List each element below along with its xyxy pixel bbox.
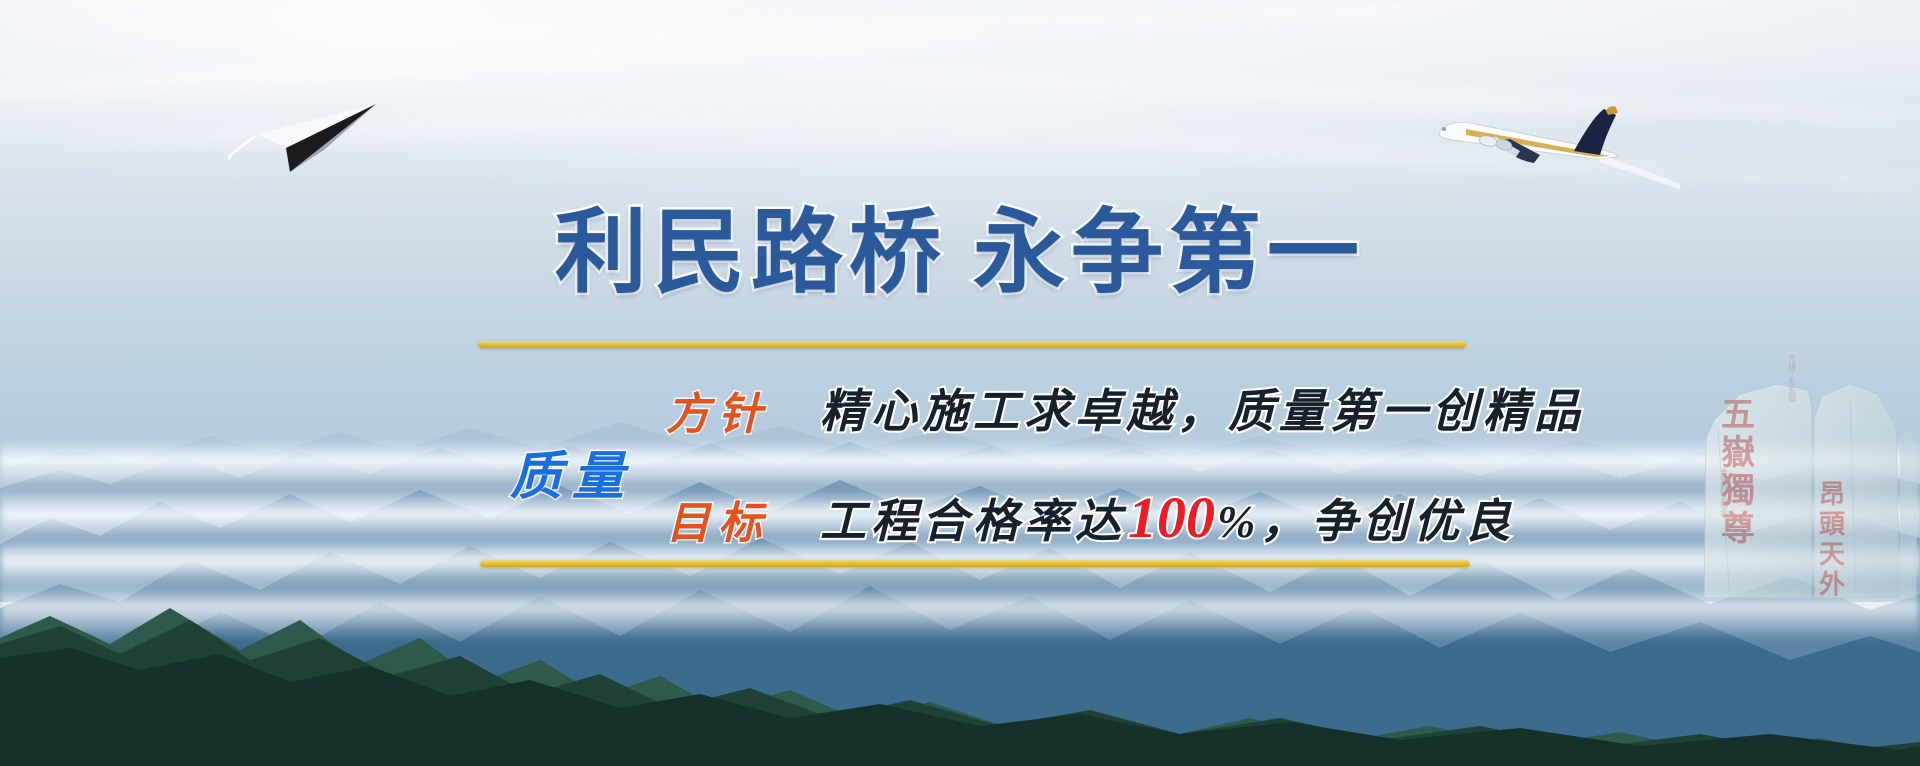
label-policy: 方针 [666,378,770,442]
hero-banner: 五嶽獨尊 昂頭天外 光緒丁亥五嶽 泰安府玉構造 利民路桥永争第一 [0,0,1920,766]
page-title: 利民路桥永争第一 [0,178,1920,311]
divider-top [478,341,1466,348]
label-goal: 目标 [666,487,770,551]
slogan-goal-percent: %， [1217,496,1311,547]
slogan-policy: 精心施工求卓越，质量第一创精品 [820,375,1585,441]
label-quality: 质量 [510,434,634,509]
svg-text:昂頭天外: 昂頭天外 [1816,480,1845,598]
headline-part-1: 利民路桥 [555,202,947,304]
divider-bottom [480,560,1470,567]
headline-part-2: 永争第一 [973,202,1365,304]
paper-plane-icon [228,100,378,180]
slogan-goal: 工程合格率达100%，争创优良 [820,484,1515,551]
svg-text:光緒丁亥五嶽: 光緒丁亥五嶽 [1788,353,1797,403]
slogan-goal-suffix: 争创优良 [1311,496,1515,547]
mountain-layer-foreground-dark [0,648,1920,766]
slogan-goal-prefix: 工程合格率达 [820,496,1126,547]
stone-stele-image: 五嶽獨尊 昂頭天外 光緒丁亥五嶽 泰安府玉構造 [1700,268,1920,598]
slogan-goal-number: 100 [1128,485,1215,550]
